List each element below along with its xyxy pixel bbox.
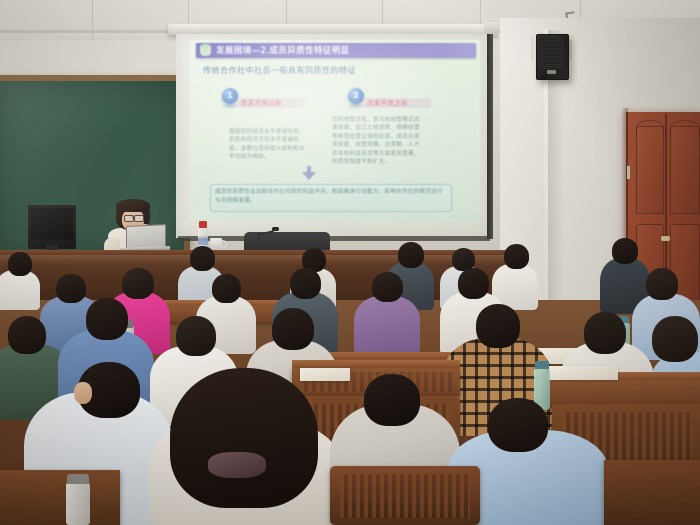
attendee-ear: [74, 382, 92, 404]
door-panel: [636, 126, 664, 214]
attendee-head: [190, 246, 215, 271]
desk: [604, 460, 700, 525]
screen-edge-right: [487, 34, 493, 239]
attendee-body: [354, 296, 420, 356]
projector-glare: [190, 40, 480, 222]
attendee-head: [176, 316, 216, 356]
attendee-head: [612, 238, 638, 264]
attendee-head: [8, 252, 32, 276]
door-handle[interactable]: [661, 236, 670, 241]
attendee-head: [458, 268, 489, 299]
handout-papers: [548, 366, 618, 380]
attendee-body: [0, 270, 40, 310]
chair-slats: [340, 474, 470, 518]
attendee-head: [646, 268, 678, 300]
attendee-long-hair: [170, 368, 318, 508]
door-panel-arch: [670, 120, 700, 135]
bottle-cap: [535, 361, 549, 369]
attendee-head: [504, 244, 529, 269]
attendee-head: [584, 312, 626, 354]
glasses-icon-right: [134, 215, 144, 222]
attendee-head: [476, 304, 520, 348]
microphone-icon[interactable]: [272, 227, 279, 231]
attendee-head: [372, 272, 403, 302]
classroom-photo: 发展困境—2.成员异质性特征明显 传统合作社中社员一般具有同质性的特征 1 改革…: [0, 0, 700, 525]
attendee-head: [652, 316, 698, 362]
bottle-cap: [199, 221, 207, 228]
desk: [0, 470, 120, 525]
monitor-screen: [31, 208, 73, 240]
attendee-head: [56, 274, 86, 303]
attendee-head: [398, 242, 424, 268]
presenter-fringe: [116, 199, 150, 212]
attendee-head: [212, 274, 241, 303]
podium-highlight: [0, 255, 520, 265]
attendee-head: [8, 316, 46, 354]
door-hinge: [627, 166, 630, 179]
door-panel: [670, 126, 700, 214]
speaker-logo: [547, 70, 556, 74]
attendee-head: [122, 268, 154, 299]
attendee-head: [488, 398, 548, 452]
attendee-head: [86, 298, 128, 340]
steel-thermos: [66, 482, 90, 525]
speaker-grille: [538, 36, 564, 69]
glasses-bridge: [132, 217, 135, 218]
door-panel-arch: [636, 120, 664, 135]
microphone-stand: [258, 236, 260, 250]
notebook: [300, 368, 350, 381]
thermos-cap: [67, 474, 89, 484]
attendee-head: [364, 374, 420, 426]
attendee-head: [290, 268, 321, 299]
attendee-head: [272, 308, 314, 350]
bottle-label: [198, 238, 208, 245]
hair-tie: [208, 452, 266, 478]
